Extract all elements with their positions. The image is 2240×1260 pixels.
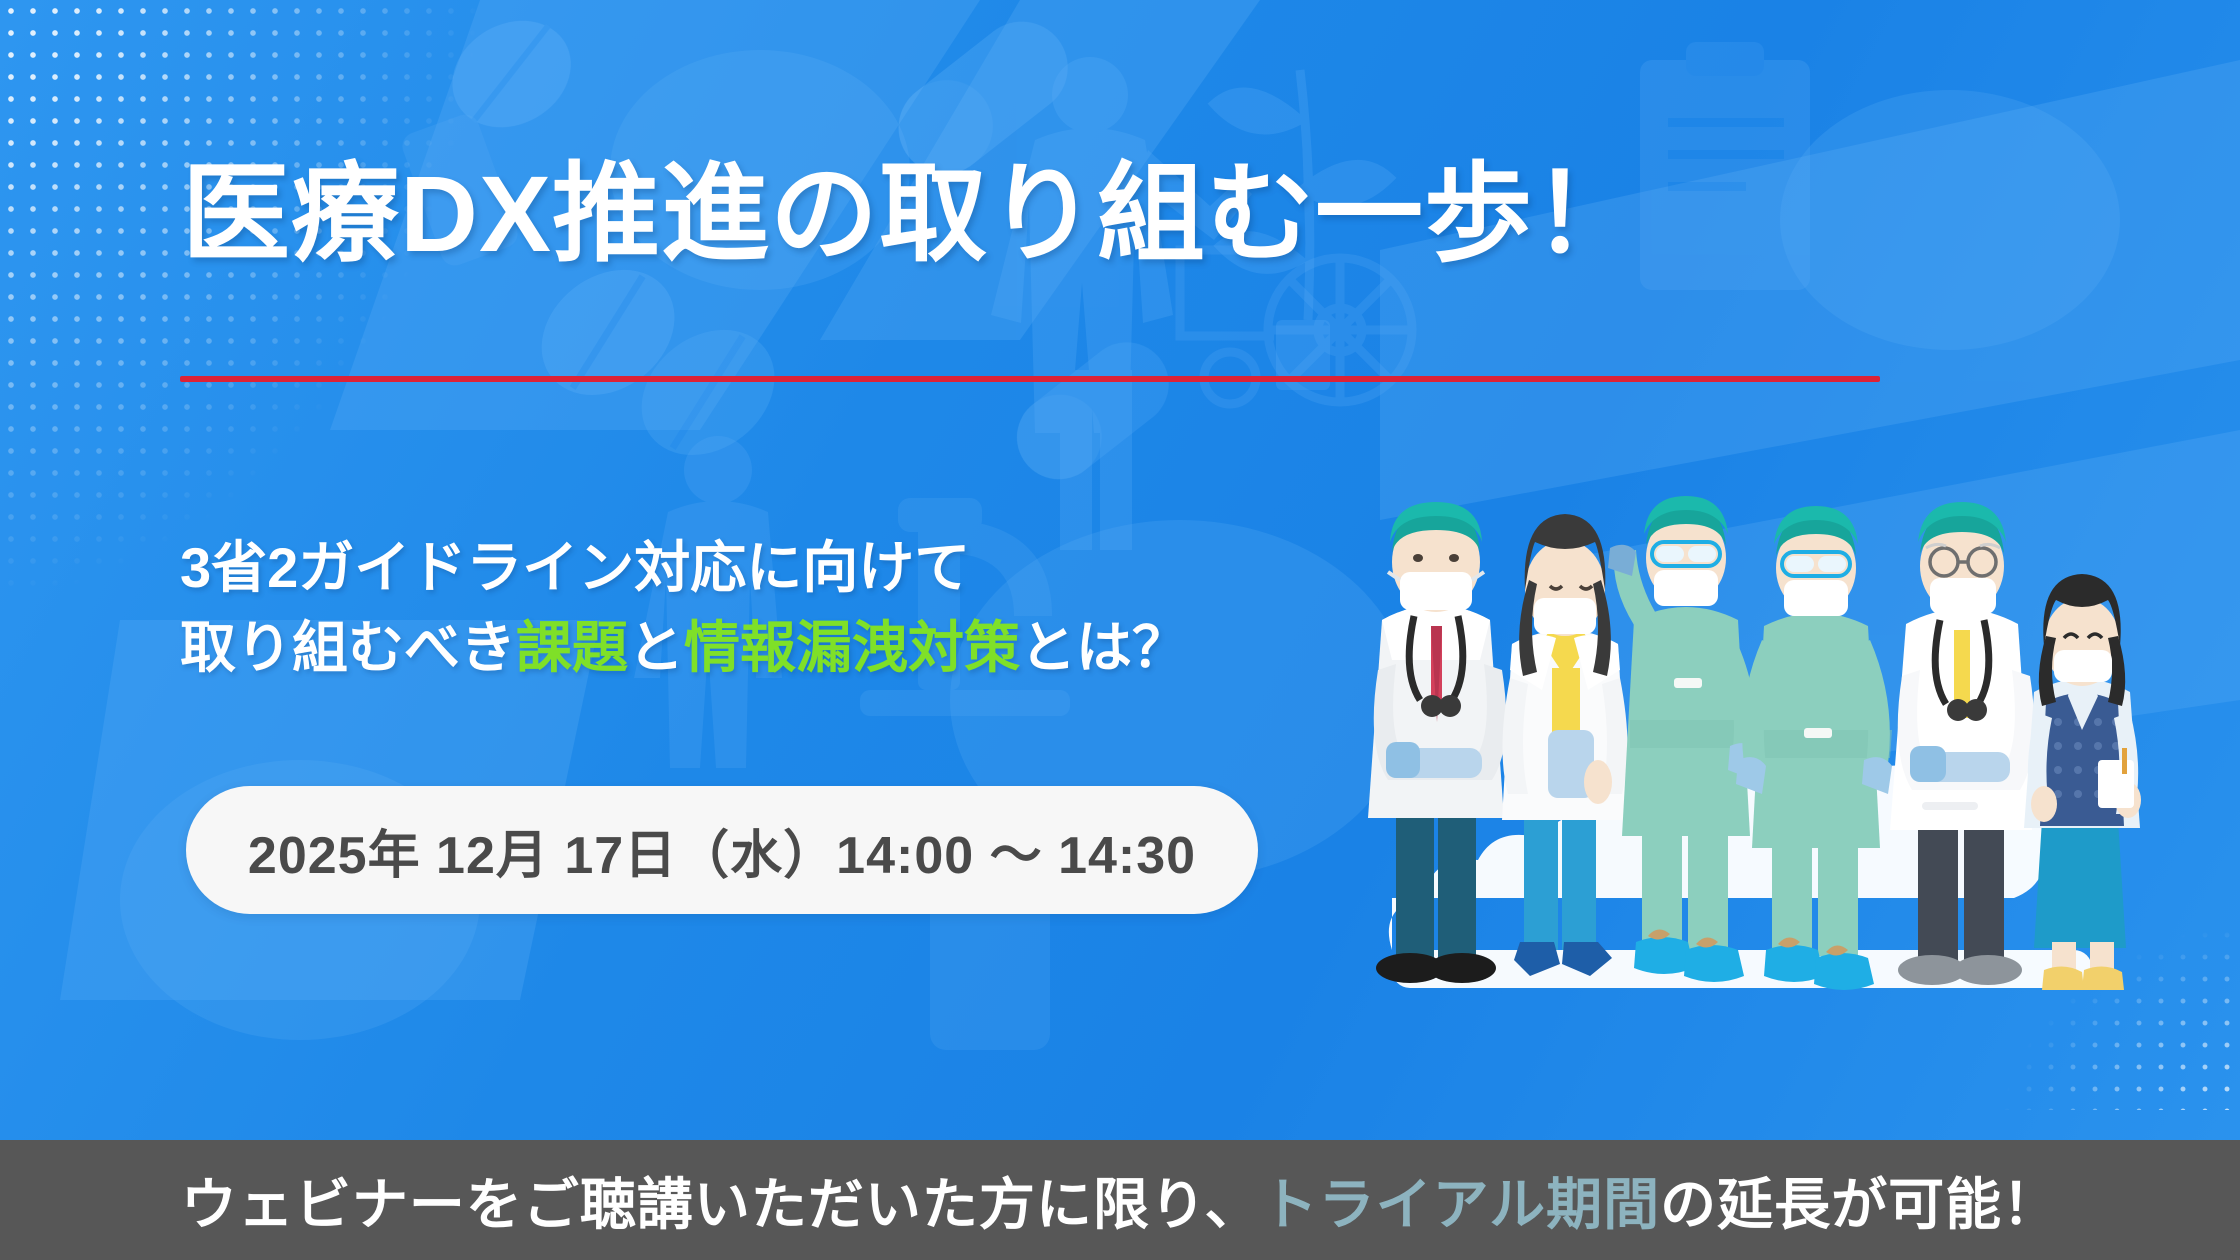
- bottom-notice-highlight-trial: トライアル期間: [1262, 1173, 1660, 1236]
- bottom-notice-bar: ウェビナーをご聴講いただいた方に限り、トライアル期間の延長が可能！: [0, 1140, 2240, 1260]
- banner-subtitle: 3省2ガイドライン対応に向けて 取り組むべき課題と情報漏洩対策とは？: [180, 528, 1188, 687]
- subtitle-line-1: 3省2ガイドライン対応に向けて: [180, 528, 1188, 608]
- subtitle-highlight-leak-countermeasure: 情報漏洩対策: [684, 616, 1020, 679]
- person-doctor-red-tie: [1368, 502, 1506, 983]
- medical-team-illustration: [1352, 430, 2192, 1010]
- webinar-banner: 医療DX推進の取り組む一歩！ 3省2ガイドライン対応に向けて 取り組むべき課題と…: [0, 0, 2240, 1260]
- person-female-doctor-yellow: [1502, 514, 1628, 976]
- title-divider: [180, 376, 1880, 382]
- bottom-notice-text: ウェビナーをご聴講いただいた方に限り、トライアル期間の延長が可能！: [181, 1160, 2059, 1241]
- webinar-date-text: 2025年 12月 17日（水）14:00 ～ 14:30: [248, 813, 1196, 888]
- banner-title: 医療DX推進の取り組む一歩！: [182, 155, 1642, 274]
- person-nurse-vest: [2024, 574, 2141, 990]
- person-senior-doctor: [1890, 502, 2034, 985]
- person-surgeon-left: [1608, 496, 1762, 982]
- banner-content: 医療DX推進の取り組む一歩！ 3省2ガイドライン対応に向けて 取り組むべき課題と…: [0, 0, 2240, 1140]
- clipboard-icon: [2098, 760, 2134, 808]
- medical-team-svg: [1352, 430, 2192, 1010]
- subtitle-line2-pre: 取り組むべき: [180, 616, 516, 679]
- person-surgeon-right: [1736, 506, 1892, 990]
- subtitle-line2-post: とは？: [1020, 616, 1188, 679]
- bottom-notice-post: の延長が可能！: [1660, 1173, 2059, 1236]
- subtitle-highlight-kadai: 課題: [516, 616, 628, 679]
- webinar-date-pill: 2025年 12月 17日（水）14:00 ～ 14:30: [186, 786, 1258, 914]
- bottom-notice-pre: ウェビナーをご聴講いただいた方に限り、: [181, 1173, 1262, 1236]
- subtitle-line2-mid: と: [628, 616, 684, 679]
- subtitle-line-2: 取り組むべき課題と情報漏洩対策とは？: [180, 608, 1188, 688]
